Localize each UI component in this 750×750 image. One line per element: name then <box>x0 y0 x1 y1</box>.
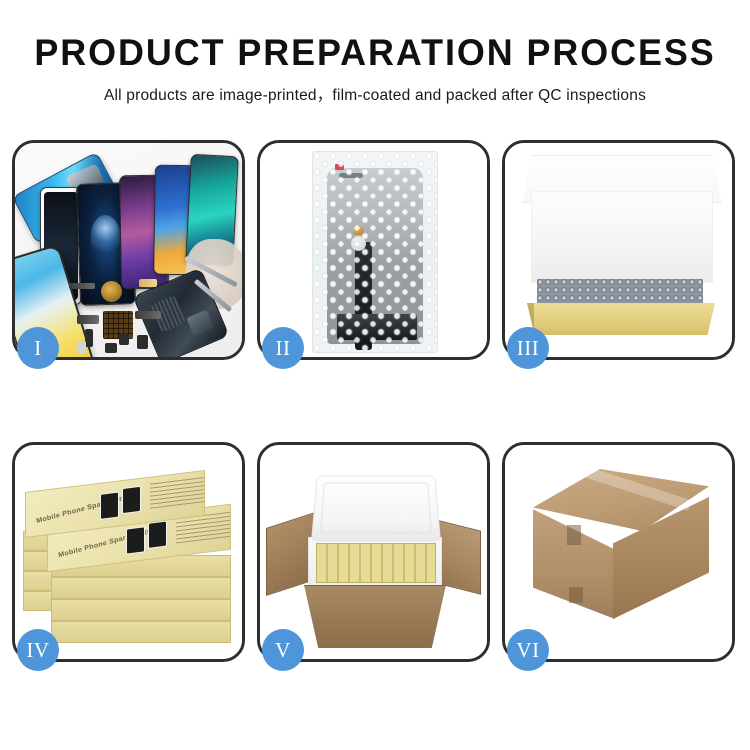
step-panel-3: III <box>502 140 735 360</box>
small-part <box>137 335 148 349</box>
step-image-1 <box>15 143 242 357</box>
small-part <box>69 283 95 289</box>
box-phone-image <box>100 492 119 520</box>
step-image-3 <box>505 143 732 357</box>
bubble-wrap-bag <box>312 151 438 353</box>
step-badge-1: I <box>17 327 59 369</box>
small-part <box>135 311 161 319</box>
small-part <box>105 343 117 353</box>
page-subtitle: All products are image-printed，film-coat… <box>0 83 750 105</box>
page-header: PRODUCT PREPARATION PROCESS All products… <box>0 0 750 105</box>
step-badge-5: V <box>262 629 304 671</box>
bubble-wrap-layer <box>537 279 703 307</box>
small-part <box>85 329 93 347</box>
step-panel-1: I <box>12 140 245 360</box>
step-badge-3: III <box>507 327 549 369</box>
small-part <box>77 341 86 354</box>
step-panel-5: V <box>257 442 490 662</box>
step-panel-6: VI <box>502 442 735 662</box>
step-badge-2: II <box>262 327 304 369</box>
yellow-boxes-inside <box>316 543 436 583</box>
step-image-4: Mobile Phone Spare Parts Mobile Phone Sp… <box>15 445 242 659</box>
speaker-coil-part <box>101 281 122 302</box>
small-part <box>119 333 129 345</box>
process-steps-grid: I II III <box>12 140 738 662</box>
step-image-5 <box>260 445 487 659</box>
small-part <box>139 279 157 287</box>
carton-seam <box>567 525 581 545</box>
step-panel-2: II <box>257 140 490 360</box>
step-image-6 <box>505 445 732 659</box>
stacked-box <box>51 577 231 599</box>
carton-front-face <box>304 585 446 648</box>
small-part <box>77 315 99 324</box>
box-stack: Mobile Phone Spare Parts Mobile Phone Sp… <box>23 463 235 649</box>
box-phone-image <box>122 486 141 514</box>
box-phone-image <box>148 521 167 549</box>
page-title: PRODUCT PREPARATION PROCESS <box>11 34 739 73</box>
bubble-texture <box>313 152 437 352</box>
step-badge-4: IV <box>17 629 59 671</box>
carton-seam <box>569 587 583 603</box>
yellow-box-base <box>527 303 715 335</box>
step-image-2 <box>260 143 487 357</box>
box-spec-lines <box>150 476 204 509</box>
step-panel-4: Mobile Phone Spare Parts Mobile Phone Sp… <box>12 442 245 662</box>
foam-lid <box>311 475 441 541</box>
foam-sheet <box>531 191 713 283</box>
box-phone-image <box>126 526 145 554</box>
stacked-box <box>51 621 231 643</box>
step-badge-6: VI <box>507 629 549 671</box>
stacked-box <box>51 599 231 621</box>
